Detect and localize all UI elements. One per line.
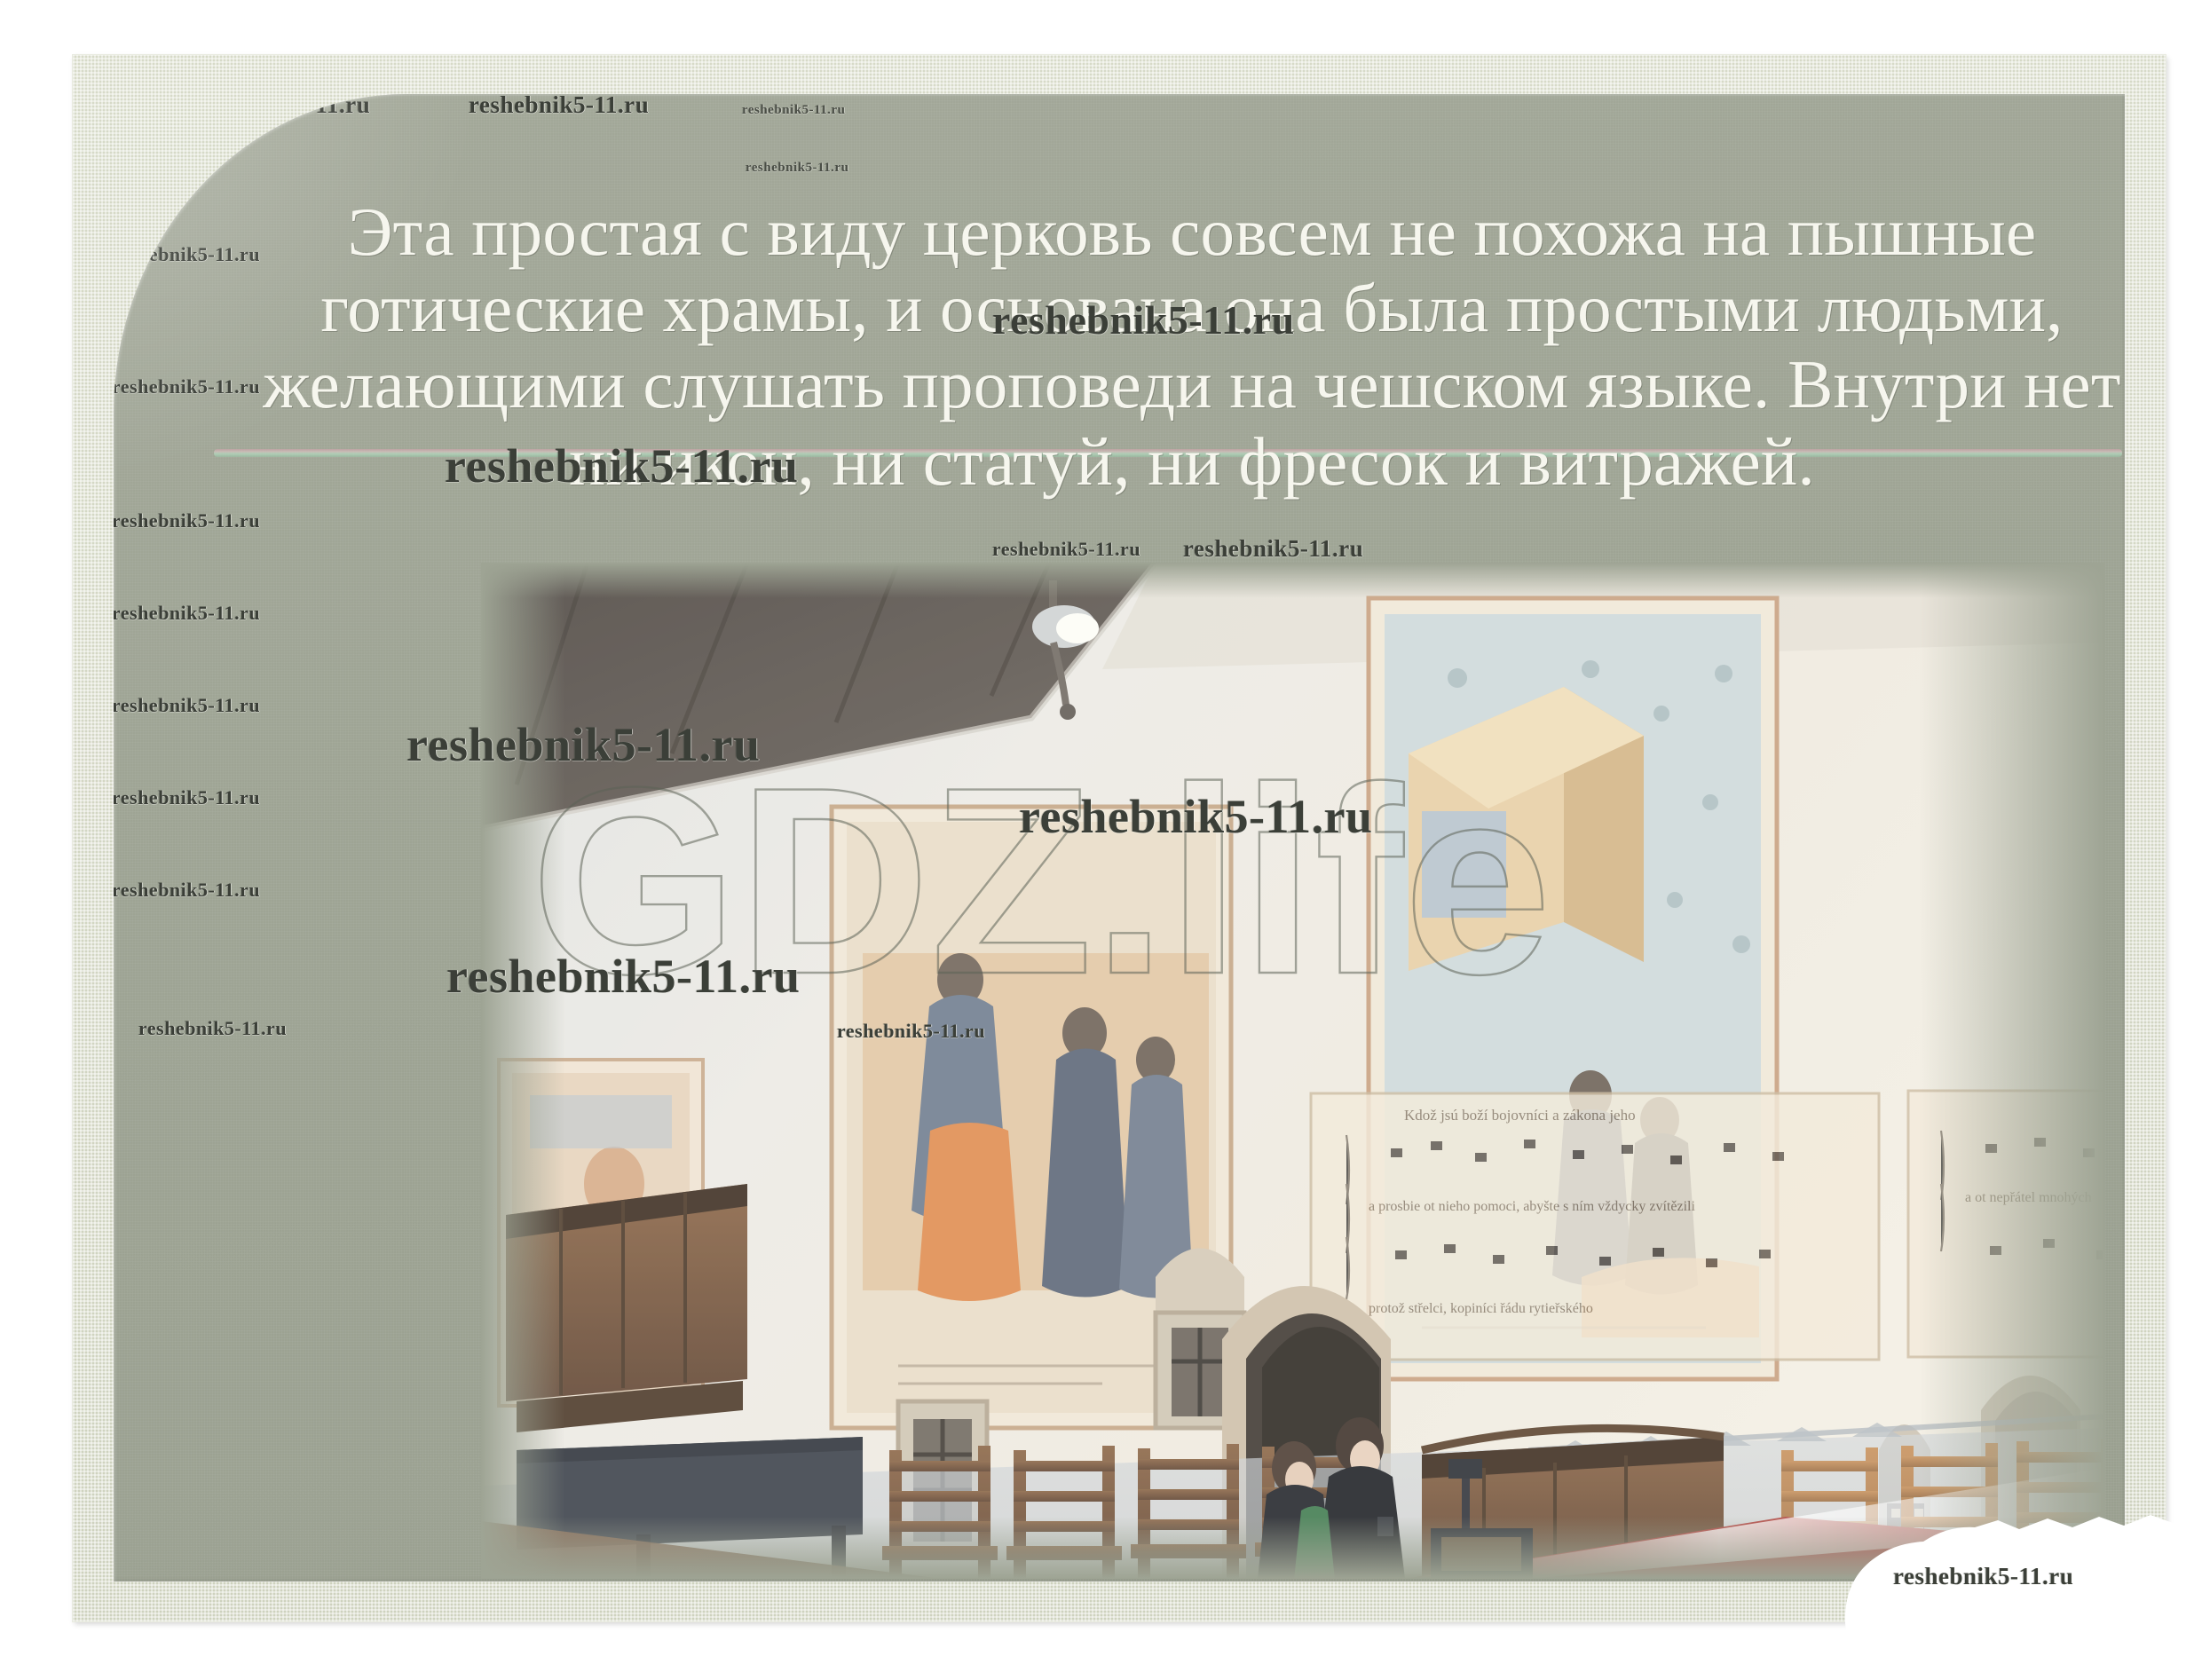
watermark-left-4: reshebnik5-11.ru [114,602,260,625]
watermark-photo-6: reshebnik5-11.ru [1183,535,1363,563]
page-title: Эта простая с виду церковь совсем не пох… [247,193,2125,500]
slide-body: Эта простая с виду церковь совсем не пох… [114,94,2125,1581]
watermark-left-3: reshebnik5-11.ru [114,509,260,532]
watermark-left-6: reshebnik5-11.ru [114,786,260,809]
watermark-photo-5: reshebnik5-11.ru [992,538,1140,561]
watermark-top-4: reshebnik5-11.ru [746,161,849,176]
watermark-left-2: reshebnik5-11.ru [114,375,260,398]
watermark-top-2: reshebnik5-11.ru [469,94,649,119]
watermark-left-5: reshebnik5-11.ru [114,694,260,717]
slide-frame: Эта простая с виду церковь совсем не пох… [73,55,2166,1621]
watermark-left-1: reshebnik5-11.ru [114,243,260,266]
photo-illustration: Kdož jsú boží bojovníci a zákona jeho [481,563,2105,1579]
watermark-top-3: reshebnik5-11.ru [742,103,846,118]
watermark-left-7: reshebnik5-11.ru [114,879,260,902]
watermark-top-1: reshebnik5-11.ru [190,94,370,119]
church-interior-photo: Kdož jsú boží bojovníci a zákona jeho [481,563,2105,1579]
watermark-bottom-1: reshebnik5-11.ru [138,1017,287,1040]
